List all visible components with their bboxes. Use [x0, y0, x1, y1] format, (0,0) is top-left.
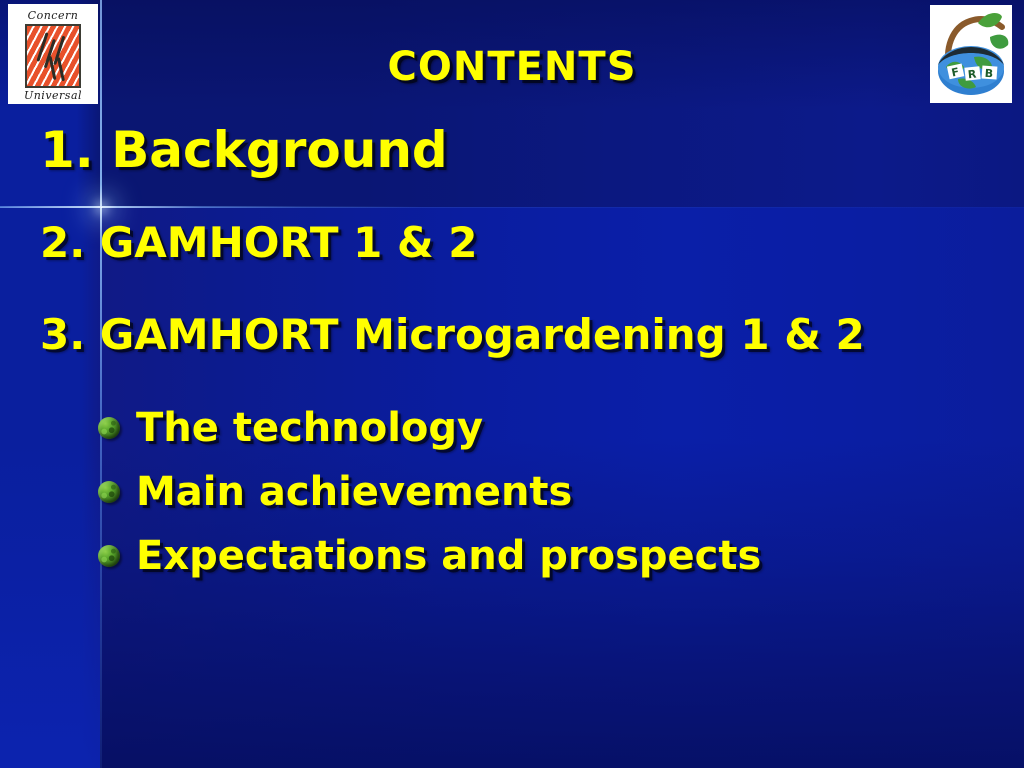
green-sphere-bullet-icon	[98, 481, 120, 503]
contents-item-1: 1. Background	[40, 124, 1004, 177]
contents-subitem-1-label: The technology	[136, 405, 483, 451]
contents-subitem-3-label: Expectations and prospects	[136, 533, 761, 579]
contents-item-2: 2. GAMHORT 1 & 2	[40, 221, 1004, 265]
contents-subitem-3: Expectations and prospects	[98, 533, 1004, 579]
contents-list: 1. Background 2. GAMHORT 1 & 2 3. GAMHOR…	[40, 124, 1004, 597]
contents-item-3: 3. GAMHORT Microgardening 1 & 2	[40, 313, 1004, 357]
green-sphere-bullet-icon	[98, 417, 120, 439]
contents-subitem-2: Main achievements	[98, 469, 1004, 515]
concern-universal-wordmark-bottom: Universal	[10, 90, 96, 101]
contents-subitem-1: The technology	[98, 405, 1004, 451]
concern-universal-wordmark-top: Concern	[10, 10, 96, 21]
green-sphere-bullet-icon	[98, 545, 120, 567]
contents-sublist: The technology Main achievements Expecta…	[98, 405, 1004, 579]
slide-title: CONTENTS	[0, 44, 1024, 90]
contents-subitem-2-label: Main achievements	[136, 469, 572, 515]
presentation-slide: Concern Universal	[0, 0, 1024, 768]
